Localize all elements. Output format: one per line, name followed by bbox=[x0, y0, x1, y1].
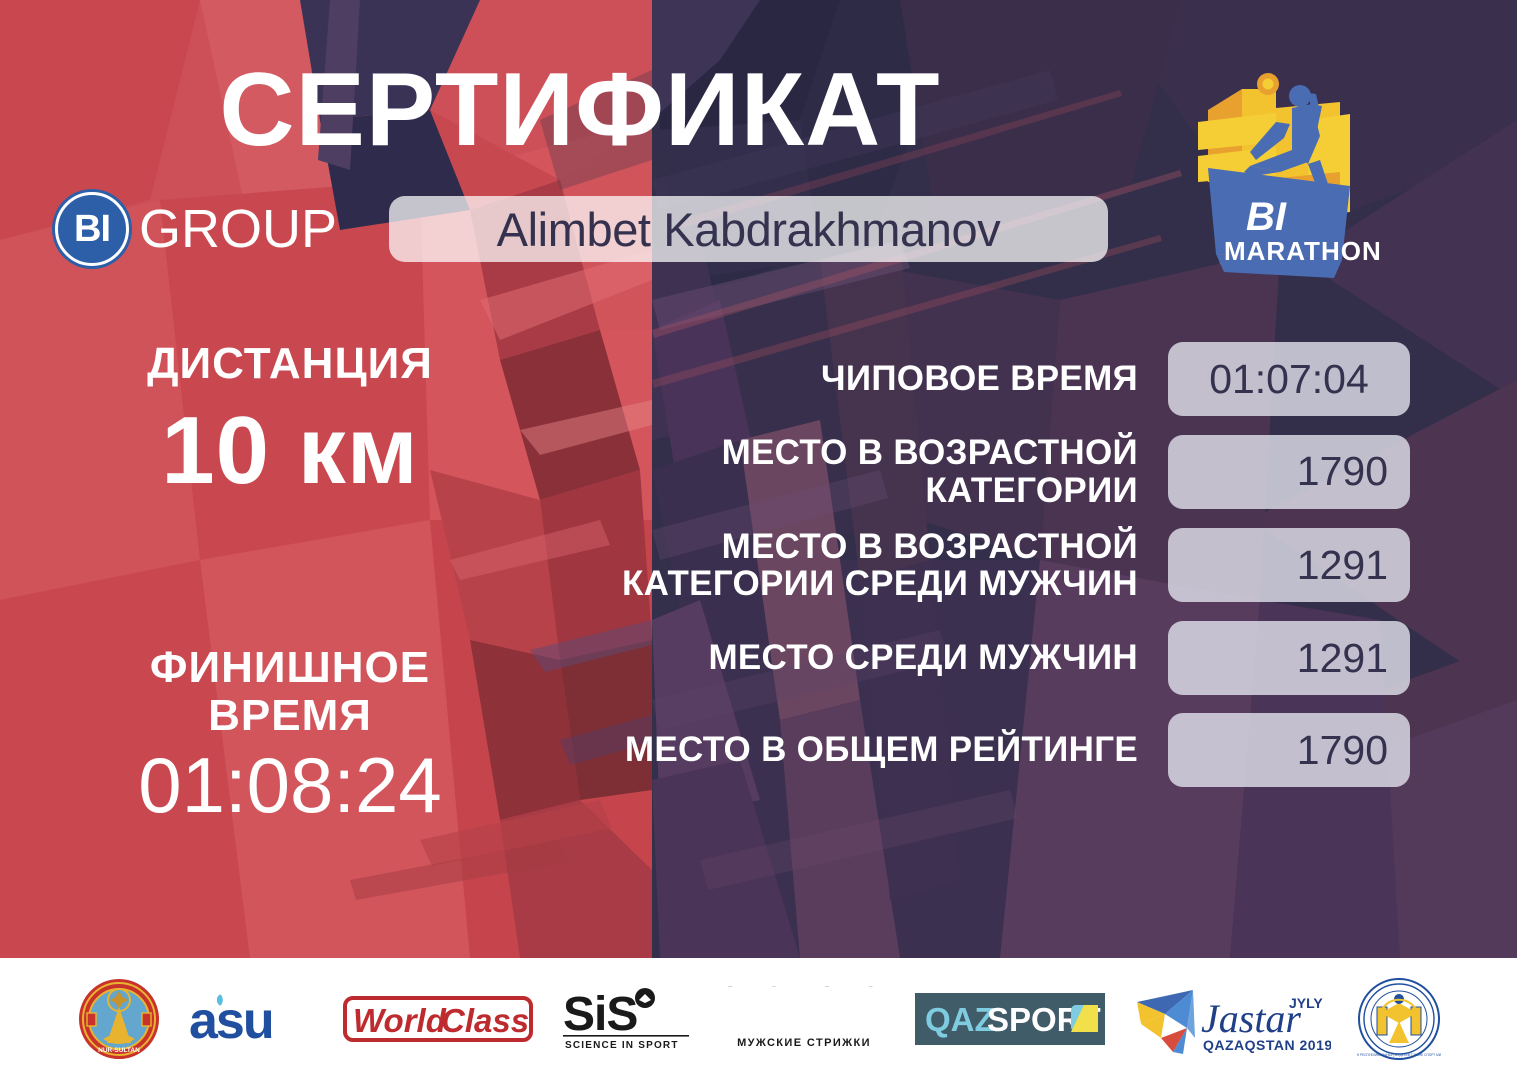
class-text: Class bbox=[441, 1002, 529, 1039]
sponsor-asu: asu bbox=[187, 977, 317, 1061]
sponsor-world-class: World Class bbox=[343, 977, 533, 1061]
sponsor-nur-sultan: NUR-SULTAN bbox=[77, 977, 161, 1061]
finish-time-block: ФИНИШНОЕ ВРЕМЯ 01:08:24 bbox=[30, 644, 550, 829]
result-row-age-category-place: МЕСТО В ВОЗРАСТНОЙ КАТЕГОРИИ 1790 bbox=[600, 434, 1410, 510]
result-row-chip-time: ЧИПОВОЕ ВРЕМЯ 01:07:04 bbox=[600, 342, 1410, 416]
finish-time-label-line2: ВРЕМЯ bbox=[30, 692, 550, 740]
finish-time-value: 01:08:24 bbox=[30, 743, 550, 829]
jastar-jyly-logo-icon: Jastar JYLY QAZAQSTAN 2019 bbox=[1131, 980, 1331, 1058]
result-row-age-category-men-place: МЕСТО В ВОЗРАСТНОЙ КАТЕГОРИИ СРЕДИ МУЖЧИ… bbox=[600, 528, 1410, 604]
results-list: ЧИПОВОЕ ВРЕМЯ 01:07:04 МЕСТО В ВОЗРАСТНО… bbox=[600, 342, 1410, 805]
qaz-text: QAZ bbox=[925, 1001, 995, 1038]
sponsor-jastar-jyly: Jastar JYLY QAZAQSTAN 2019 bbox=[1131, 977, 1331, 1061]
sis-logo-icon: SiS SCIENCE IN SPORT bbox=[559, 986, 693, 1052]
participant-name: Alimbet Kabdrakhmanov bbox=[497, 202, 1001, 257]
asu-label: asu bbox=[189, 992, 273, 1050]
jastar-text: Jastar bbox=[1201, 996, 1301, 1041]
result-label: МЕСТО В ВОЗРАСТНОЙ КАТЕГОРИИ bbox=[600, 434, 1168, 510]
marathon-bi-text: BI bbox=[1246, 195, 1287, 239]
sis-tagline: SCIENCE IN SPORT bbox=[565, 1040, 679, 1051]
result-label: МЕСТО В ОБЩЕМ РЕЙТИНГЕ bbox=[600, 731, 1168, 769]
sponsor-qazsport: QAZ SPORT bbox=[915, 977, 1105, 1061]
chop-chop-logo-icon: CHOP-CHOP МУЖСКИЕ СТРИЖКИ bbox=[719, 986, 889, 1052]
result-value: 1790 bbox=[1168, 713, 1410, 787]
result-row-men-place: МЕСТО СРЕДИ МУЖЧИН 1291 bbox=[600, 621, 1410, 695]
ministry-seal-icon: ҚАЗАҚСТАН РЕСПУБЛИКАСЫНЫҢ МӘДЕНИЕТ ЖӘНЕ … bbox=[1357, 977, 1441, 1061]
certificate-page: СЕРТИФИКАТ Alimbet Kabdrakhmanov BI GROU… bbox=[0, 0, 1517, 1080]
nur-sultan-emblem-icon: NUR-SULTAN bbox=[77, 977, 161, 1061]
result-label: ЧИПОВОЕ ВРЕМЯ bbox=[600, 360, 1168, 398]
sponsor-ministry-seal: ҚАЗАҚСТАН РЕСПУБЛИКАСЫНЫҢ МӘДЕНИЕТ ЖӘНЕ … bbox=[1357, 977, 1441, 1061]
world-text: World bbox=[353, 1002, 447, 1039]
chop-chop-tagline: МУЖСКИЕ СТРИЖКИ bbox=[737, 1037, 871, 1049]
page-title: СЕРТИФИКАТ bbox=[0, 58, 1160, 162]
sponsor-chop-chop: CHOP-CHOP МУЖСКИЕ СТРИЖКИ bbox=[719, 977, 889, 1061]
finish-time-label-line1: ФИНИШНОЕ bbox=[30, 644, 550, 692]
bi-marathon-logo: BI MARATHON bbox=[1180, 64, 1390, 299]
distance-label: ДИСТАНЦИЯ bbox=[30, 340, 550, 388]
result-value: 1790 bbox=[1168, 435, 1410, 509]
result-label: МЕСТО СРЕДИ МУЖЧИН bbox=[600, 639, 1168, 677]
sponsor-sis: SiS SCIENCE IN SPORT bbox=[559, 977, 693, 1061]
bi-group-label: GROUP bbox=[139, 198, 337, 260]
chop-chop-text: CHOP-CHOP bbox=[719, 986, 889, 993]
result-label: МЕСТО В ВОЗРАСТНОЙ КАТЕГОРИИ СРЕДИ МУЖЧИ… bbox=[600, 528, 1168, 604]
bi-group-logo: BI GROUP bbox=[55, 192, 337, 266]
sponsor-bar: NUR-SULTAN asu World Class SiS bbox=[0, 958, 1517, 1080]
sis-text: SiS bbox=[563, 988, 637, 1041]
qazaqstan-2019-text: QAZAQSTAN 2019 bbox=[1203, 1037, 1331, 1053]
participant-name-pill: Alimbet Kabdrakhmanov bbox=[389, 196, 1108, 262]
jyly-text: JYLY bbox=[1289, 995, 1323, 1011]
world-class-logo-icon: World Class bbox=[343, 990, 533, 1048]
result-row-overall-place: МЕСТО В ОБЩЕМ РЕЙТИНГЕ 1790 bbox=[600, 713, 1410, 787]
bi-mark-icon: BI bbox=[55, 192, 129, 266]
ministry-seal-label: ҚАЗАҚСТАН РЕСПУБЛИКАСЫНЫҢ МӘДЕНИЕТ ЖӘНЕ … bbox=[1357, 1053, 1441, 1057]
distance-value: 10 км bbox=[30, 398, 550, 504]
result-value: 1291 bbox=[1168, 621, 1410, 695]
result-value: 01:07:04 bbox=[1168, 342, 1410, 416]
qazsport-logo-icon: QAZ SPORT bbox=[915, 993, 1105, 1045]
distance-block: ДИСТАНЦИЯ 10 км bbox=[30, 340, 550, 503]
result-value: 1291 bbox=[1168, 528, 1410, 602]
asu-logo-icon: asu bbox=[187, 988, 317, 1050]
nur-sultan-label: NUR-SULTAN bbox=[98, 1047, 140, 1054]
marathon-word-text: MARATHON bbox=[1224, 236, 1382, 266]
